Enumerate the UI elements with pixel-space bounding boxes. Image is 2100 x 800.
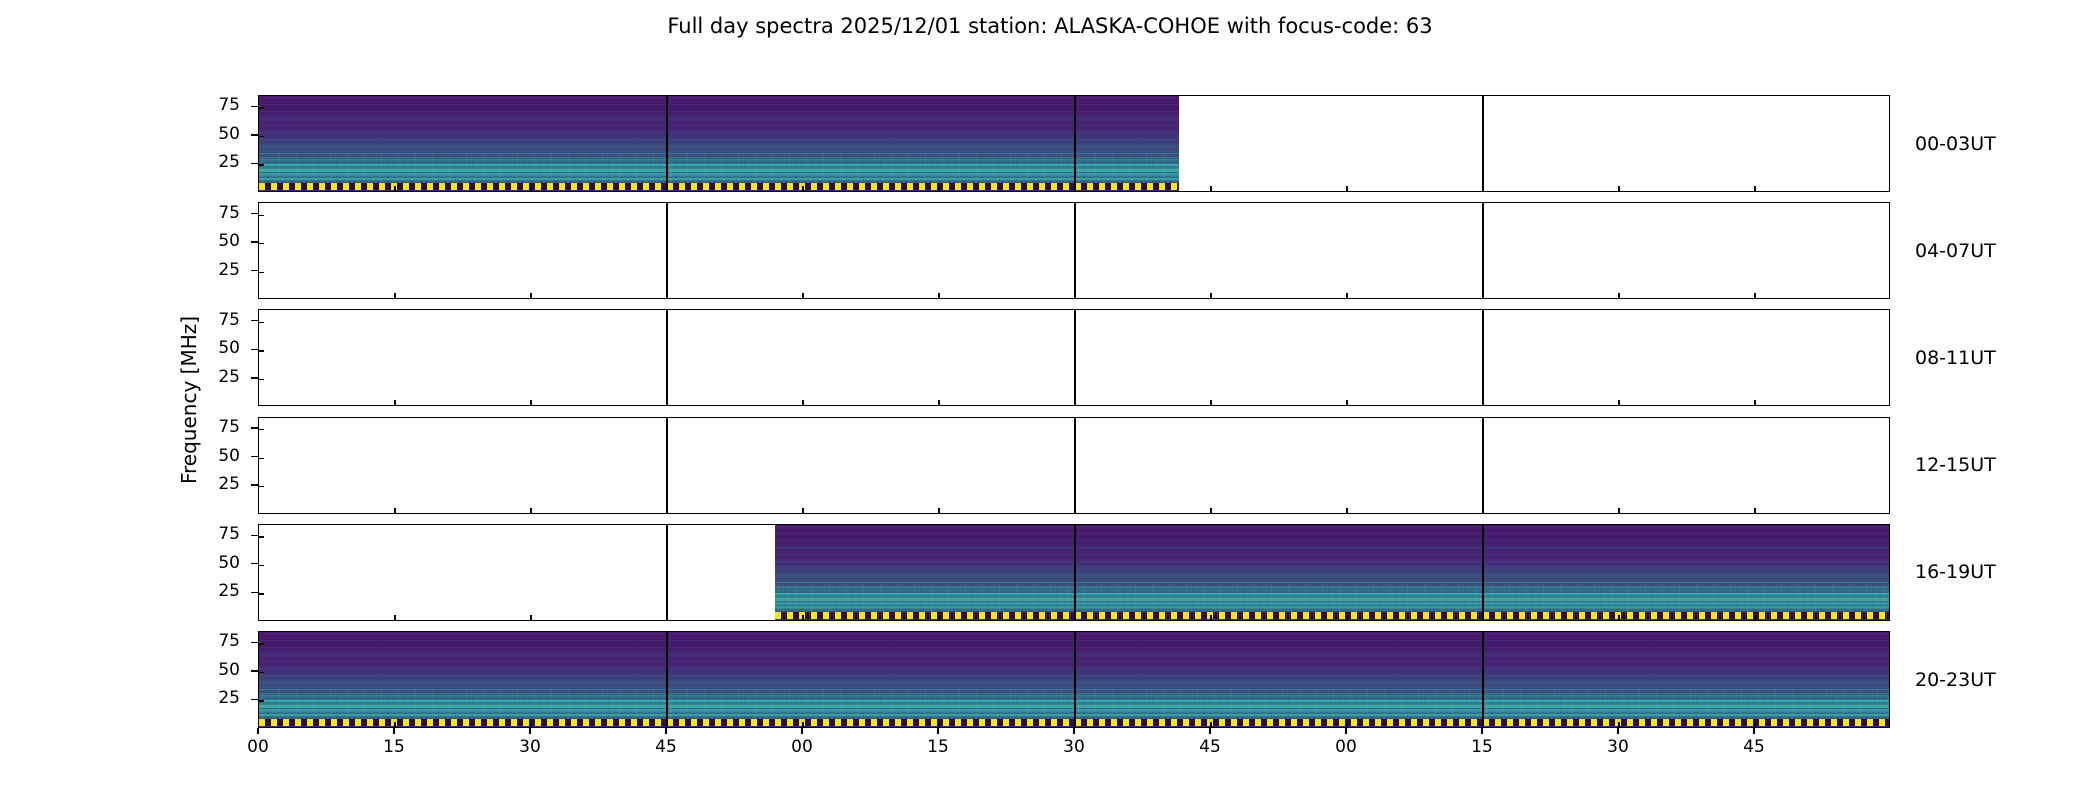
spectrogram-panel[interactable] bbox=[258, 417, 1890, 514]
x-tick-mark-outer bbox=[1073, 728, 1074, 734]
y-tick-mark bbox=[259, 215, 264, 216]
x-tick-mark-outer bbox=[665, 728, 666, 734]
spectrogram-panel[interactable] bbox=[258, 202, 1890, 299]
emission-band bbox=[775, 587, 1890, 588]
x-tick-label: 00 bbox=[782, 738, 822, 756]
panel-grid-line bbox=[1074, 203, 1075, 298]
y-tick-label: 50 bbox=[200, 126, 240, 143]
panel-grid-line bbox=[666, 203, 667, 298]
x-tick-mark bbox=[530, 293, 531, 298]
y-axis-label: Frequency [MHz] bbox=[176, 0, 202, 800]
spectrogram-panel[interactable] bbox=[258, 95, 1890, 192]
panel-time-label: 16-19UT bbox=[1915, 562, 2075, 582]
x-tick-mark bbox=[938, 186, 939, 191]
y-tick-mark-outer bbox=[251, 106, 258, 107]
y-tick-label: 25 bbox=[200, 583, 240, 600]
y-tick-mark bbox=[259, 243, 264, 244]
y-tick-mark bbox=[259, 643, 264, 644]
event-marker-bar bbox=[775, 612, 1890, 619]
x-tick-mark bbox=[1346, 293, 1347, 298]
y-tick-mark bbox=[259, 107, 264, 108]
x-tick-mark bbox=[1618, 293, 1619, 298]
y-tick-mark-outer bbox=[251, 163, 258, 164]
panel-grid-line bbox=[1482, 310, 1483, 405]
panel-time-label: 12-15UT bbox=[1915, 455, 2075, 475]
x-tick-mark bbox=[530, 186, 531, 191]
y-tick-label: 50 bbox=[200, 448, 240, 465]
x-tick-mark bbox=[802, 508, 803, 513]
x-tick-label: 45 bbox=[1190, 738, 1230, 756]
emission-band bbox=[259, 173, 1179, 175]
x-tick-mark bbox=[394, 400, 395, 405]
y-tick-mark-outer bbox=[251, 535, 258, 536]
y-tick-label: 75 bbox=[200, 419, 240, 436]
y-tick-mark bbox=[259, 429, 264, 430]
panel-grid-line bbox=[1482, 418, 1483, 513]
panel-grid-line bbox=[1074, 632, 1075, 727]
panel-grid-line bbox=[1074, 310, 1075, 405]
x-tick-mark-outer bbox=[1209, 728, 1210, 734]
panel-grid-line bbox=[1074, 96, 1075, 191]
x-tick-mark bbox=[1618, 722, 1619, 727]
emission-band bbox=[775, 602, 1890, 604]
x-tick-mark bbox=[1754, 400, 1755, 405]
y-tick-mark-outer bbox=[251, 670, 258, 671]
panel-grid-line bbox=[666, 525, 667, 620]
x-tick-mark bbox=[1754, 293, 1755, 298]
x-tick-mark bbox=[394, 293, 395, 298]
x-tick-mark-outer bbox=[937, 728, 938, 734]
x-tick-mark bbox=[530, 400, 531, 405]
panel-grid-line bbox=[666, 418, 667, 513]
spectrogram-panel[interactable] bbox=[258, 524, 1890, 621]
x-tick-mark-outer bbox=[1345, 728, 1346, 734]
y-tick-label: 75 bbox=[200, 526, 240, 543]
panel-grid-line bbox=[1074, 525, 1075, 620]
x-tick-label: 45 bbox=[1734, 738, 1774, 756]
y-tick-mark-outer bbox=[251, 699, 258, 700]
emission-band bbox=[259, 159, 1179, 160]
panel-grid-line bbox=[666, 632, 667, 727]
event-marker-bar bbox=[259, 183, 1179, 190]
x-tick-mark bbox=[1754, 186, 1755, 191]
x-tick-mark bbox=[1618, 400, 1619, 405]
y-tick-mark-outer bbox=[251, 320, 258, 321]
x-tick-mark bbox=[802, 400, 803, 405]
emission-band bbox=[259, 164, 1179, 166]
x-tick-mark bbox=[1210, 508, 1211, 513]
x-tick-mark-outer bbox=[1481, 728, 1482, 734]
x-tick-mark bbox=[530, 722, 531, 727]
x-tick-label: 15 bbox=[1462, 738, 1502, 756]
x-tick-mark bbox=[1618, 508, 1619, 513]
y-tick-mark bbox=[259, 593, 264, 594]
y-tick-label: 25 bbox=[200, 476, 240, 493]
y-tick-mark bbox=[259, 565, 264, 566]
emission-band bbox=[775, 593, 1890, 595]
y-axis-label-text: Frequency [MHz] bbox=[177, 316, 201, 484]
y-tick-mark bbox=[259, 164, 264, 165]
panel-grid-line bbox=[1074, 418, 1075, 513]
y-tick-label: 50 bbox=[200, 555, 240, 572]
y-tick-mark-outer bbox=[251, 241, 258, 242]
x-tick-mark bbox=[1210, 615, 1211, 620]
x-tick-mark bbox=[1346, 508, 1347, 513]
y-tick-mark-outer bbox=[251, 456, 258, 457]
x-tick-mark bbox=[1210, 400, 1211, 405]
y-tick-mark-outer bbox=[251, 592, 258, 593]
y-tick-mark bbox=[259, 700, 264, 701]
y-tick-mark-outer bbox=[251, 349, 258, 350]
x-tick-mark bbox=[1754, 722, 1755, 727]
x-tick-mark-outer bbox=[257, 728, 258, 734]
x-tick-mark bbox=[1210, 293, 1211, 298]
panel-time-label: 08-11UT bbox=[1915, 348, 2075, 368]
y-tick-mark-outer bbox=[251, 213, 258, 214]
panel-time-label: 20-23UT bbox=[1915, 670, 2075, 690]
x-tick-mark bbox=[1210, 186, 1211, 191]
y-tick-mark-outer bbox=[251, 270, 258, 271]
y-tick-mark bbox=[259, 379, 264, 380]
x-tick-mark-outer bbox=[1753, 728, 1754, 734]
x-tick-label: 15 bbox=[918, 738, 958, 756]
x-tick-mark-outer bbox=[529, 728, 530, 734]
x-tick-mark bbox=[1618, 615, 1619, 620]
emission-band bbox=[775, 598, 1890, 601]
panel-grid-line bbox=[1482, 96, 1483, 191]
spectrogram-figure: Full day spectra 2025/12/01 station: ALA… bbox=[0, 0, 2100, 800]
x-tick-label: 00 bbox=[1326, 738, 1366, 756]
x-tick-mark-outer bbox=[1617, 728, 1618, 734]
x-tick-mark bbox=[1346, 186, 1347, 191]
emission-band bbox=[259, 178, 1179, 180]
emission-band bbox=[259, 169, 1179, 172]
x-tick-mark bbox=[394, 186, 395, 191]
x-tick-label: 30 bbox=[510, 738, 550, 756]
y-tick-mark bbox=[259, 350, 264, 351]
y-tick-mark-outer bbox=[251, 134, 258, 135]
y-tick-label: 50 bbox=[200, 340, 240, 357]
x-tick-mark bbox=[1210, 722, 1211, 727]
y-tick-label: 25 bbox=[200, 154, 240, 171]
x-tick-mark bbox=[394, 722, 395, 727]
x-tick-mark bbox=[1618, 186, 1619, 191]
y-tick-label: 25 bbox=[200, 690, 240, 707]
y-tick-mark bbox=[259, 486, 264, 487]
y-tick-label: 75 bbox=[200, 97, 240, 114]
y-tick-mark bbox=[259, 322, 264, 323]
y-tick-label: 75 bbox=[200, 205, 240, 222]
y-tick-mark-outer bbox=[251, 484, 258, 485]
panel-time-label: 04-07UT bbox=[1915, 241, 2075, 261]
x-tick-mark bbox=[1754, 508, 1755, 513]
y-tick-label: 25 bbox=[200, 369, 240, 386]
x-tick-mark bbox=[938, 400, 939, 405]
spectrogram-data bbox=[259, 96, 1179, 191]
y-tick-mark-outer bbox=[251, 377, 258, 378]
panel-grid-line bbox=[1482, 525, 1483, 620]
y-tick-mark-outer bbox=[251, 427, 258, 428]
y-tick-mark-outer bbox=[251, 563, 258, 564]
y-tick-mark bbox=[259, 672, 264, 673]
x-tick-mark bbox=[938, 615, 939, 620]
x-tick-label: 30 bbox=[1054, 738, 1094, 756]
x-tick-label: 30 bbox=[1598, 738, 1638, 756]
spectrogram-panel[interactable] bbox=[258, 309, 1890, 406]
panel-grid-line bbox=[1482, 632, 1483, 727]
page-title: Full day spectra 2025/12/01 station: ALA… bbox=[0, 13, 2100, 39]
y-tick-label: 75 bbox=[200, 633, 240, 650]
x-tick-mark bbox=[802, 293, 803, 298]
x-tick-mark bbox=[802, 186, 803, 191]
x-tick-mark bbox=[802, 615, 803, 620]
x-tick-mark-outer bbox=[801, 728, 802, 734]
panel-grid-line bbox=[1482, 203, 1483, 298]
x-tick-label: 00 bbox=[238, 738, 278, 756]
y-tick-label: 75 bbox=[200, 312, 240, 329]
spectrogram-panel[interactable] bbox=[258, 631, 1890, 728]
y-tick-mark bbox=[259, 536, 264, 537]
y-tick-mark bbox=[259, 272, 264, 273]
x-tick-label: 15 bbox=[374, 738, 414, 756]
y-tick-label: 50 bbox=[200, 233, 240, 250]
panel-grid-line bbox=[666, 96, 667, 191]
x-tick-mark bbox=[1346, 615, 1347, 620]
x-tick-mark bbox=[530, 615, 531, 620]
x-tick-mark bbox=[530, 508, 531, 513]
x-tick-mark bbox=[938, 508, 939, 513]
spectrogram-data bbox=[775, 525, 1890, 620]
emission-band bbox=[775, 606, 1890, 608]
x-tick-mark bbox=[1346, 722, 1347, 727]
x-tick-mark bbox=[1754, 615, 1755, 620]
y-tick-mark bbox=[259, 136, 264, 137]
x-tick-mark-outer bbox=[393, 728, 394, 734]
y-tick-label: 50 bbox=[200, 662, 240, 679]
y-tick-mark-outer bbox=[251, 642, 258, 643]
x-tick-mark bbox=[802, 722, 803, 727]
x-tick-label: 45 bbox=[646, 738, 686, 756]
x-tick-mark bbox=[938, 722, 939, 727]
y-tick-label: 25 bbox=[200, 262, 240, 279]
x-tick-mark bbox=[1346, 400, 1347, 405]
x-tick-mark bbox=[394, 508, 395, 513]
panel-grid-line bbox=[666, 310, 667, 405]
y-tick-mark bbox=[259, 458, 264, 459]
x-tick-mark bbox=[394, 615, 395, 620]
x-tick-mark bbox=[938, 293, 939, 298]
panel-time-label: 00-03UT bbox=[1915, 134, 2075, 154]
